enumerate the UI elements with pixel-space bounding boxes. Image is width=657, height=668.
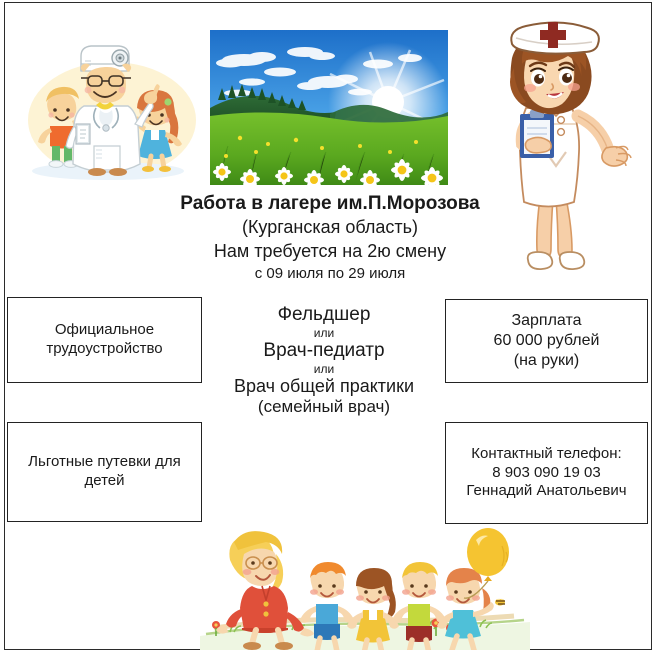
vacancy-separator-1: или <box>210 327 438 340</box>
region-subtitle: (Курганская область) <box>150 217 510 238</box>
vacancy-family-doctor-note: (семейный врач) <box>210 398 438 417</box>
contact-phone: 8 903 090 19 03 <box>466 464 626 483</box>
contact-person: Геннадий Анатольевич <box>466 482 626 501</box>
employment-line-1: Официальное <box>46 321 162 340</box>
employment-line-2: трудоустройство <box>46 340 162 359</box>
salary-line-2: 60 000 рублей <box>494 331 600 351</box>
vacancy-pediatrician: Врач-педиатр <box>210 341 438 362</box>
contact-label: Контактный телефон: <box>466 445 626 464</box>
vouchers-box: Льготные путевки для детей <box>7 422 202 522</box>
employment-box: Официальное трудоустройство <box>7 297 202 383</box>
sunny-meadow-daisies-photo <box>210 30 448 185</box>
salary-line-3: (на руки) <box>494 351 600 371</box>
shift-dates: с 09 июля по 29 июля <box>150 265 510 283</box>
vacancies-list: Фельдшер или Врач-педиатр или Врач общей… <box>210 305 438 417</box>
vouchers-line-1: Льготные путевки для <box>28 453 181 472</box>
doctor-with-children-illustration <box>8 28 206 188</box>
page-title: Работа в лагере им.П.Морозова <box>150 193 510 215</box>
salary-box: Зарплата 60 000 рублей (на руки) <box>445 299 648 383</box>
vacancy-general-practitioner: Врач общей практики <box>210 377 438 397</box>
vacancy-feldsher: Фельдшер <box>210 305 438 326</box>
vacancy-separator-2: или <box>210 363 438 376</box>
salary-line-1: Зарплата <box>494 311 600 331</box>
contact-box: Контактный телефон: 8 903 090 19 03 Генн… <box>445 422 648 524</box>
headline-block: Работа в лагере им.П.Морозова (Курганска… <box>150 193 510 283</box>
vouchers-line-2: детей <box>28 472 181 491</box>
shift-requirement: Нам требуется на 2ю смену <box>150 241 510 262</box>
teacher-leading-children-illustration <box>200 528 530 650</box>
